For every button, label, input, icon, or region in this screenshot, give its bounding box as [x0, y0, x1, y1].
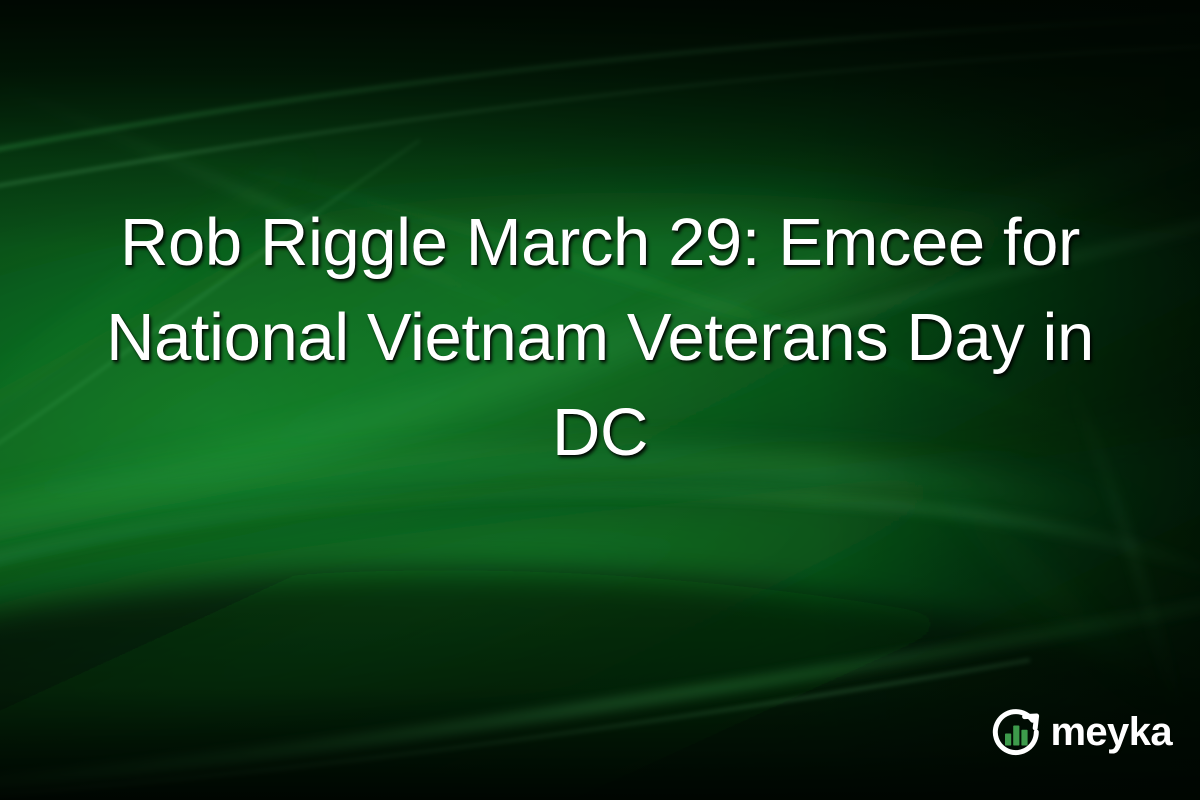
- bar-1: [1005, 734, 1011, 746]
- meyka-ring-barchart-icon: [990, 706, 1042, 758]
- bar-3: [1022, 730, 1028, 746]
- brand-lockup[interactable]: meyka: [990, 706, 1172, 758]
- headline-container: Rob Riggle March 29: Emcee for National …: [0, 0, 1200, 800]
- page-title: Rob Riggle March 29: Emcee for National …: [55, 195, 1145, 480]
- social-card: Rob Riggle March 29: Emcee for National …: [0, 0, 1200, 800]
- brand-name: meyka: [1050, 712, 1172, 752]
- bar-2: [1014, 726, 1020, 746]
